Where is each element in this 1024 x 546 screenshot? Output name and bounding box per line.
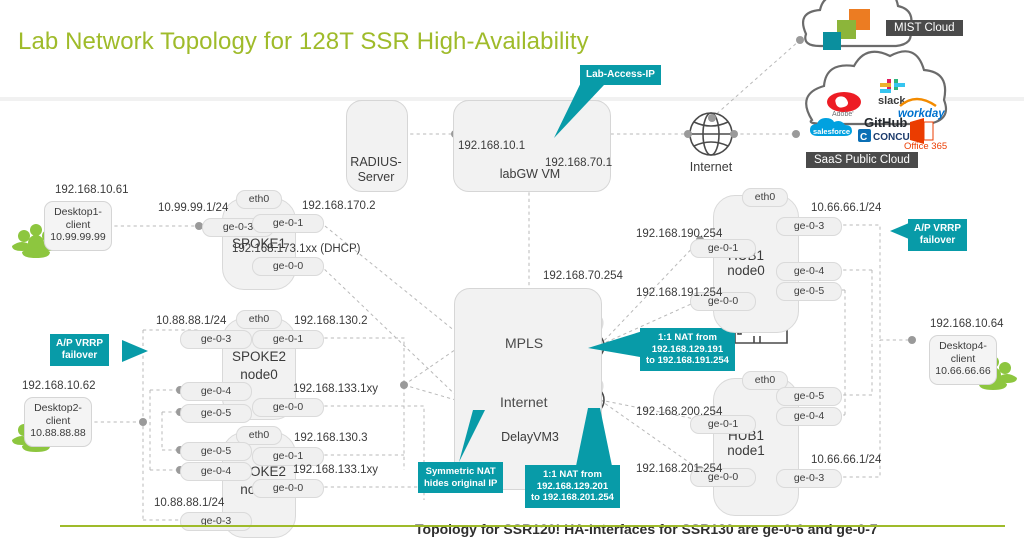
nat-201-line2: 192.168.129.201 — [531, 481, 614, 493]
hub1-node0-ip-ge-0-0: 192.168.191.254 — [636, 287, 722, 299]
nat-191-callout: 1:1 NAT from 192.168.129.191 to 192.168.… — [640, 328, 735, 371]
desktop2-client-box: Desktop2- client 10.88.88.88 — [24, 397, 92, 447]
delayvm3-uplink-ip: 192.168.70.254 — [543, 270, 623, 282]
labgw-ip-left: 192.168.10.1 — [458, 140, 525, 152]
hub1-vrrp-line2: failover — [914, 235, 961, 247]
saas-cloud-label: SaaS Public Cloud — [806, 152, 918, 168]
nat-201-callout: 1:1 NAT from 192.168.129.201 to 192.168.… — [525, 465, 620, 508]
nat-201-line3: to 192.168.201.254 — [531, 492, 614, 504]
bottom-rule — [60, 525, 1005, 527]
spoke2-node0-ip-ge-0-1: 192.168.130.2 — [294, 315, 368, 327]
symmetric-nat-callout: Symmetric NAT hides original IP — [418, 462, 503, 493]
spoke2-vrrp-pointer — [122, 340, 152, 364]
hub1-node0-label-2: node0 — [716, 263, 776, 278]
hub1-node0-eth0-pill: eth0 — [742, 188, 788, 207]
hub1-vrrp-line1: A/P VRRP — [914, 223, 961, 235]
spoke2-node0-eth0-pill: eth0 — [236, 310, 282, 329]
symmetric-nat-pointer — [455, 410, 525, 465]
desktop2-line1: Desktop2- — [25, 402, 91, 415]
spoke1-ip-ge-0-0: 192.168.173.1xx (DHCP) — [232, 243, 360, 255]
hub1-node0-iface-ge-0-1: ge-0-1 — [690, 239, 756, 258]
spoke2-node0-label-1: SPOKE2 — [214, 349, 304, 364]
hub1-node1-iface-ge-0-4: ge-0-4 — [776, 407, 842, 426]
mist-cloud-label: MIST Cloud — [886, 20, 963, 36]
desktop1-line3: 10.99.99.99 — [45, 231, 111, 244]
spoke2-node1-ip-ge-0-3: 10.88.88.1/24 — [154, 497, 224, 509]
spoke1-ip-ge-0-1: 192.168.170.2 — [302, 200, 376, 212]
spoke2-vrrp-callout: A/P VRRP failover — [50, 334, 109, 366]
desktop2-mgmt-ip: 192.168.10.62 — [22, 380, 96, 392]
radius-server-label-2: Server — [346, 170, 406, 184]
desktop1-line2: client — [45, 219, 111, 232]
desktop4-line3: 10.66.66.66 — [930, 365, 996, 378]
svg-text:Office 365: Office 365 — [904, 141, 947, 150]
desktop4-mgmt-ip: 192.168.10.64 — [930, 318, 1004, 330]
spoke2-node0-iface-ge-0-4: ge-0-4 — [180, 382, 252, 401]
spoke1-ip-ge-0-3: 10.99.99.1/24 — [158, 202, 228, 214]
spoke2-node1-iface-ge-0-4: ge-0-4 — [180, 462, 252, 481]
desktop1-mgmt-ip: 192.168.10.61 — [55, 184, 129, 196]
svg-text:C: C — [860, 132, 867, 143]
spoke2-node0-ip-ge-0-0: 192.168.133.1xy — [293, 383, 378, 395]
hub1-node1-iface-ge-0-5: ge-0-5 — [776, 387, 842, 406]
spoke1-eth0-pill: eth0 — [236, 190, 282, 209]
nat-191-line3: to 192.168.191.254 — [646, 355, 729, 367]
hub1-node1-ip-ge-0-3: 10.66.66.1/24 — [811, 454, 881, 466]
nat-191-line2: 192.168.129.191 — [646, 344, 729, 356]
nat-201-pointer — [562, 408, 622, 468]
spoke1-iface-ge-0-0: ge-0-0 — [252, 257, 324, 276]
radius-server-label-1: RADIUS- — [346, 155, 406, 169]
hub1-node0-iface-ge-0-3: ge-0-3 — [776, 217, 842, 236]
hub1-node0-iface-ge-0-4: ge-0-4 — [776, 262, 842, 281]
mpls-cloud-label: MPLS — [505, 335, 543, 351]
spoke2-node0-ip-ge-0-3: 10.88.88.1/24 — [156, 315, 226, 327]
desktop1-client-box: Desktop1- client 10.99.99.99 — [44, 201, 112, 251]
spoke2-node0-label-2: node0 — [214, 367, 304, 382]
labgw-label: labGW VM — [480, 167, 580, 181]
salesforce-logo: salesforce — [808, 118, 860, 151]
symmetric-nat-line2: hides original IP — [424, 478, 497, 490]
spoke2-node1-ip-ge-0-0: 192.168.133.1xy — [293, 464, 378, 476]
spoke1-iface-ge-0-1: ge-0-1 — [252, 214, 324, 233]
internet-globe-label: Internet — [681, 160, 741, 174]
office365-logo: Office 365 — [904, 116, 958, 155]
spoke2-node0-iface-ge-0-3: ge-0-3 — [180, 330, 252, 349]
symmetric-nat-line1: Symmetric NAT — [424, 466, 497, 478]
desktop4-line2: client — [930, 353, 996, 366]
nat-191-line1: 1:1 NAT from — [646, 332, 729, 344]
topology-canvas: .dash{stroke:#b9b9b9;stroke-width:1;stro… — [0, 0, 1024, 546]
desktop1-line1: Desktop1- — [45, 206, 111, 219]
spoke2-node1-iface-ge-0-5: ge-0-5 — [180, 442, 252, 461]
spoke2-node1-iface-ge-0-3: ge-0-3 — [180, 512, 252, 531]
spoke2-node0-iface-ge-0-0: ge-0-0 — [252, 398, 324, 417]
svg-text:Adobe': Adobe' — [832, 111, 854, 117]
desktop2-line3: 10.88.88.88 — [25, 427, 91, 440]
spoke2-vrrp-line2: failover — [56, 350, 103, 362]
hub1-node0-ip-ge-0-1: 192.168.190.254 — [636, 228, 722, 240]
page-title: Lab Network Topology for 128T SSR High-A… — [18, 28, 589, 56]
bottom-caption: Topology for SSR120! HA-Interfaces for S… — [415, 521, 878, 537]
spoke2-node1-iface-ge-0-0: ge-0-0 — [252, 479, 324, 498]
desktop4-client-box: Desktop4- client 10.66.66.66 — [929, 335, 997, 385]
hub1-node1-ip-ge-0-1: 192.168.200.254 — [636, 406, 722, 418]
svg-text:salesforce: salesforce — [813, 127, 850, 136]
desktop2-line2: client — [25, 415, 91, 428]
spoke2-node0-iface-ge-0-5: ge-0-5 — [180, 404, 252, 423]
hub1-node1-ip-ge-0-0: 192.168.201.254 — [636, 463, 722, 475]
spoke2-node0-iface-ge-0-1: ge-0-1 — [252, 330, 324, 349]
internet-cloud-label: Internet — [500, 394, 547, 410]
hub1-node1-label-2: node1 — [716, 443, 776, 458]
hub1-node0-iface-ge-0-5: ge-0-5 — [776, 282, 842, 301]
spoke2-vrrp-line1: A/P VRRP — [56, 338, 103, 350]
spoke2-node1-ip-ge-0-1: 192.168.130.3 — [294, 432, 368, 444]
desktop4-line1: Desktop4- — [930, 340, 996, 353]
hub1-node1-iface-ge-0-3: ge-0-3 — [776, 469, 842, 488]
nat-201-line1: 1:1 NAT from — [531, 469, 614, 481]
hub1-vrrp-callout: A/P VRRP failover — [908, 219, 967, 251]
lab-access-ip-callout: Lab-Access-IP — [580, 65, 661, 85]
hub1-node0-ip-ge-0-3: 10.66.66.1/24 — [811, 202, 881, 214]
